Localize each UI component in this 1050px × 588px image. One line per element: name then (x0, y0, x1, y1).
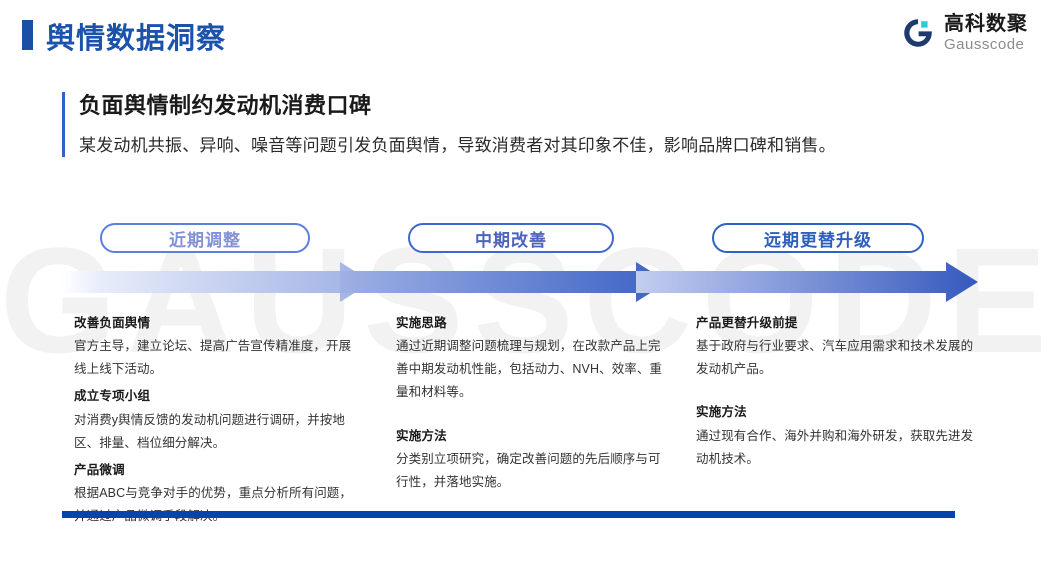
logo-text: 高科数聚 Gausscode (944, 14, 1028, 52)
header-bullet-icon (22, 20, 33, 50)
block-heading: 改善负面舆情 (74, 312, 356, 335)
column-mid-term: 实施思路 通过近期调整问题梳理与规划，在改款产品上完善中期发动机性能，包括动力、… (396, 312, 666, 498)
text-block: 改善负面舆情 官方主导，建立论坛、提高广告宣传精准度，开展线上线下活动。 (74, 312, 356, 381)
phase-pill-long-term[interactable]: 远期更替升级 (712, 223, 924, 253)
block-body: 根据ABC与竞争对手的优势，重点分析所有问题，并通过产品微调手段解决。 (74, 482, 356, 528)
text-block: 实施思路 通过近期调整问题梳理与规划，在改款产品上完善中期发动机性能，包括动力、… (396, 312, 666, 405)
text-block: 实施方法 通过现有合作、海外并购和海外研发，获取先进发动机技术。 (696, 401, 974, 470)
column-near-term: 改善负面舆情 官方主导，建立论坛、提高广告宣传精准度，开展线上线下活动。 成立专… (74, 312, 356, 532)
spacer (696, 385, 974, 401)
phase-pill-long-term-label: 远期更替升级 (764, 226, 872, 251)
block-body: 通过近期调整问题梳理与规划，在改款产品上完善中期发动机性能，包括动力、NVH、效… (396, 335, 666, 404)
phase-pill-mid-term-label: 中期改善 (475, 226, 547, 251)
page-title: 舆情数据洞察 (46, 15, 226, 57)
gausscode-g-mark-icon (901, 16, 935, 50)
block-body: 基于政府与行业要求、汽车应用需求和技术发展的发动机产品。 (696, 335, 974, 381)
logo-name-cn: 高科数聚 (944, 14, 1028, 34)
block-heading: 产品更替升级前提 (696, 312, 974, 335)
text-block: 成立专项小组 对消费y舆情反馈的发动机问题进行调研，并按地区、排量、档位细分解决… (74, 385, 356, 454)
block-heading: 产品微调 (74, 459, 356, 482)
lead-subtitle: 某发动机共振、异响、噪音等问题引发负面舆情，导致消费者对其印象不佳，影响品牌口碑… (79, 134, 989, 158)
text-block: 产品更替升级前提 基于政府与行业要求、汽车应用需求和技术发展的发动机产品。 (696, 312, 974, 381)
slide: GAUSSCODE 舆情数据洞察 高科数聚 Gausscode 负面舆情制约发动… (0, 0, 1050, 588)
block-heading: 成立专项小组 (74, 385, 356, 408)
phase-pill-near-term-label: 近期调整 (169, 226, 241, 251)
column-long-term: 产品更替升级前提 基于政府与行业要求、汽车应用需求和技术发展的发动机产品。 实施… (696, 312, 974, 475)
slide-header: 舆情数据洞察 (0, 0, 1050, 72)
block-heading: 实施方法 (696, 401, 974, 424)
block-body: 通过现有合作、海外并购和海外研发，获取先进发动机技术。 (696, 425, 974, 471)
block-body: 分类别立项研究，确定改善问题的先后顺序与可行性，并落地实施。 (396, 448, 666, 494)
block-heading: 实施方法 (396, 425, 666, 448)
footer-rule (62, 511, 955, 518)
phase-pill-mid-term[interactable]: 中期改善 (408, 223, 614, 253)
block-heading: 实施思路 (396, 312, 666, 335)
block-body: 官方主导，建立论坛、提高广告宣传精准度，开展线上线下活动。 (74, 335, 356, 381)
three-stage-progress-arrow-icon (62, 262, 978, 302)
spacer (396, 409, 666, 425)
text-block: 实施方法 分类别立项研究，确定改善问题的先后顺序与可行性，并落地实施。 (396, 425, 666, 494)
phase-pill-near-term[interactable]: 近期调整 (100, 223, 310, 253)
lead-block: 负面舆情制约发动机消费口碑 某发动机共振、异响、噪音等问题引发负面舆情，导致消费… (62, 92, 989, 157)
block-body: 对消费y舆情反馈的发动机问题进行调研，并按地区、排量、档位细分解决。 (74, 409, 356, 455)
logo-name-en: Gausscode (944, 37, 1028, 52)
brand-logo: 高科数聚 Gausscode (901, 14, 1028, 52)
lead-title: 负面舆情制约发动机消费口碑 (79, 92, 989, 121)
